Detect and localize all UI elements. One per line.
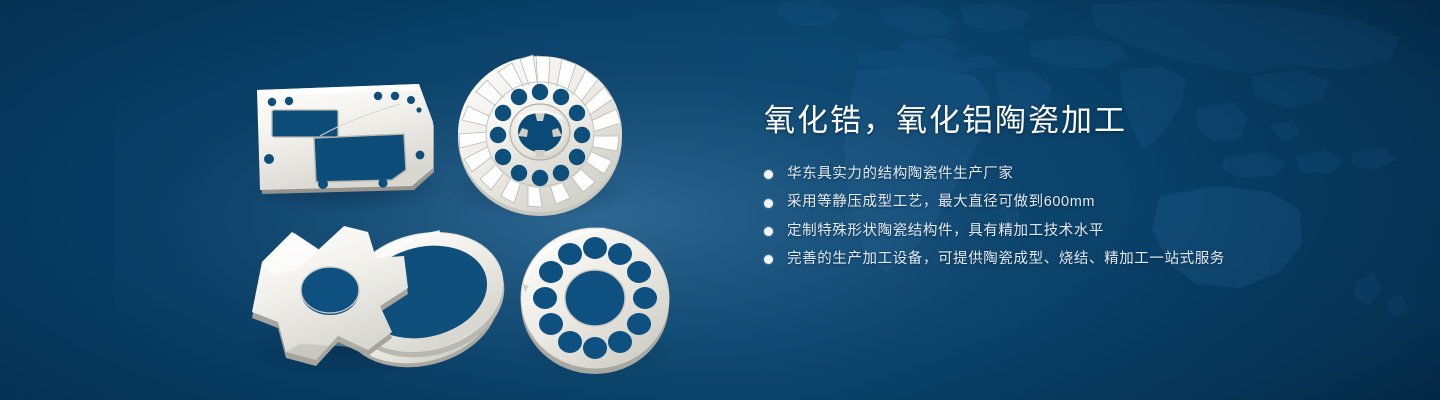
promo-banner: 氧化锆，氧化铝陶瓷加工 华东具实力的结构陶瓷件生产厂家 采用等静压成型工艺，最大… bbox=[0, 0, 1440, 400]
page-title: 氧化锆，氧化铝陶瓷加工 bbox=[764, 104, 1384, 138]
ceramic-vaned-impeller bbox=[458, 55, 622, 216]
bullet-dot-icon bbox=[764, 170, 773, 179]
feature-text: 定制特殊形状陶瓷结构件，具有精加工技术水平 bbox=[787, 223, 1104, 240]
feature-text: 采用等静压成型工艺，最大直径可做到600mm bbox=[787, 194, 1095, 211]
ceramic-mounting-plate bbox=[257, 84, 434, 194]
list-item: 采用等静压成型工艺，最大直径可做到600mm bbox=[764, 194, 1384, 211]
list-item: 完善的生产加工设备，可提供陶瓷成型、烧结、精加工一站式服务 bbox=[764, 251, 1384, 268]
feature-list: 华东具实力的结构陶瓷件生产厂家 采用等静压成型工艺，最大直径可做到600mm 定… bbox=[764, 166, 1384, 269]
ceramic-products-photo bbox=[0, 0, 720, 400]
ceramic-perforated-disc bbox=[521, 228, 669, 374]
feature-text: 华东具实力的结构陶瓷件生产厂家 bbox=[787, 166, 1014, 183]
bullet-dot-icon bbox=[764, 227, 773, 236]
list-item: 华东具实力的结构陶瓷件生产厂家 bbox=[764, 166, 1384, 183]
banner-copy: 氧化锆，氧化铝陶瓷加工 华东具实力的结构陶瓷件生产厂家 采用等静压成型工艺，最大… bbox=[764, 104, 1384, 269]
bullet-dot-icon bbox=[764, 255, 773, 264]
feature-text: 完善的生产加工设备，可提供陶瓷成型、烧结、精加工一站式服务 bbox=[787, 251, 1225, 268]
bullet-dot-icon bbox=[764, 199, 773, 208]
list-item: 定制特殊形状陶瓷结构件，具有精加工技术水平 bbox=[764, 223, 1384, 240]
